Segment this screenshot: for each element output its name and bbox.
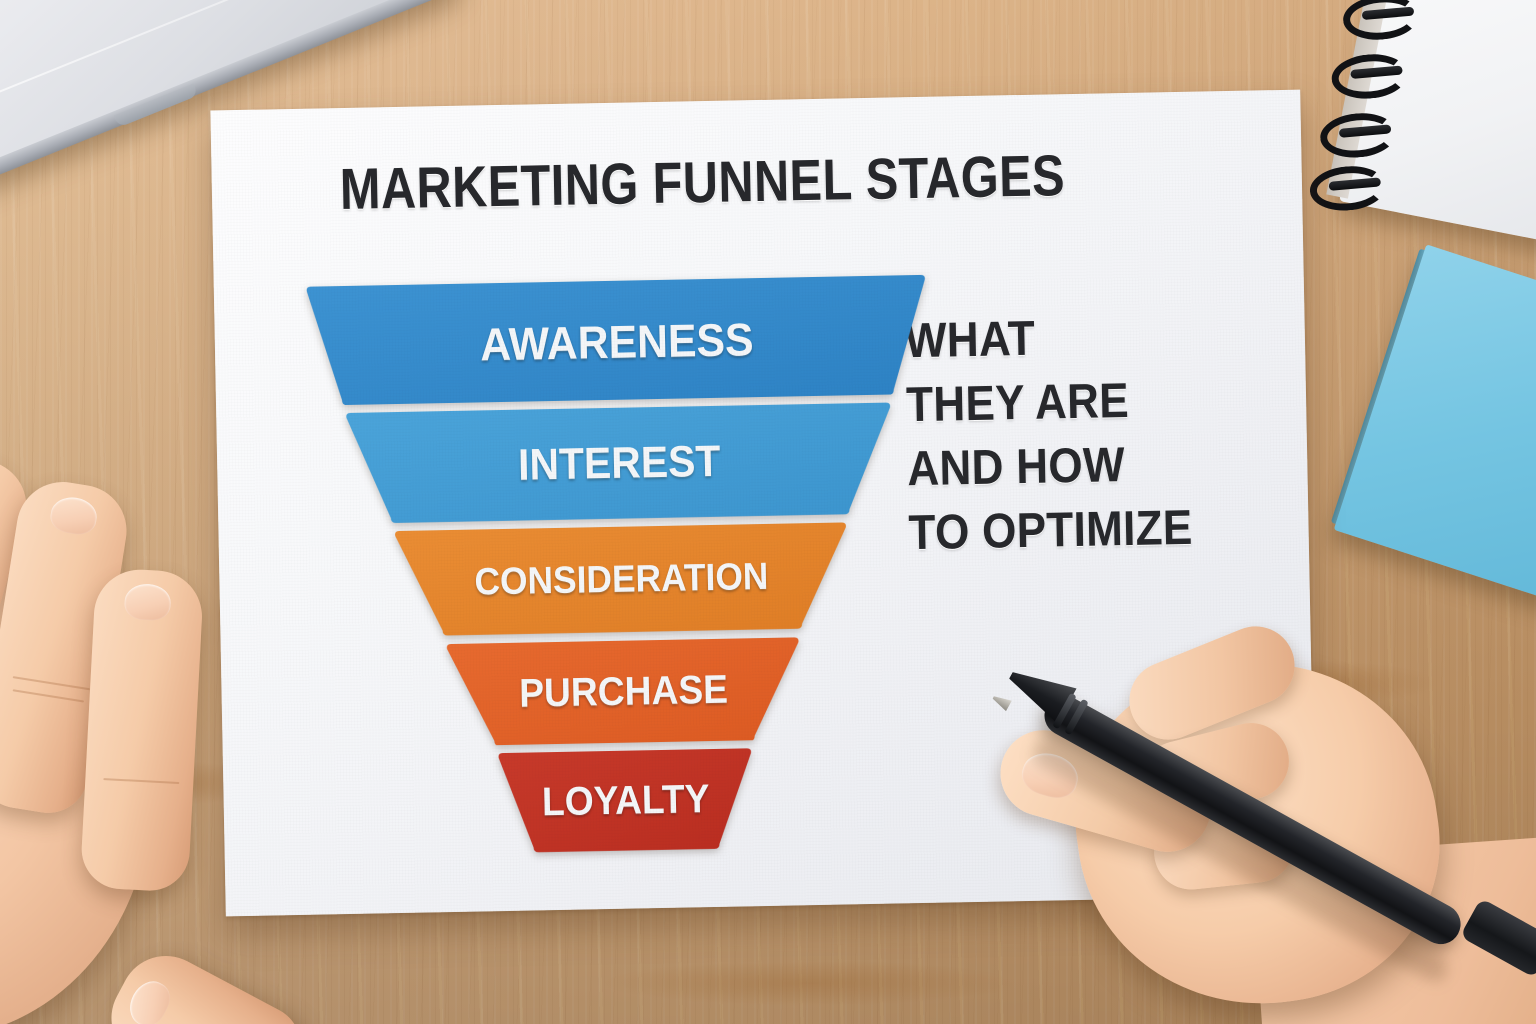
side-heading-line: THEY ARE bbox=[906, 367, 1258, 438]
left-thumb bbox=[95, 940, 314, 1024]
side-heading-line: AND HOW bbox=[907, 430, 1259, 501]
wood-knot bbox=[600, 960, 1020, 1006]
fingernail bbox=[123, 975, 176, 1024]
funnel-stage-consideration[interactable]: CONSIDERATION bbox=[310, 521, 932, 638]
funnel-stage-purchase[interactable]: PURCHASE bbox=[313, 634, 935, 748]
pen-barrel bbox=[1037, 689, 1467, 952]
finger-crease bbox=[103, 778, 179, 784]
left-hand bbox=[0, 418, 330, 1024]
left-ring-finger bbox=[80, 567, 205, 892]
funnel-stage-loyalty[interactable]: LOYALTY bbox=[315, 745, 937, 857]
funnel-chart: AWARENESSINTERESTCONSIDERATIONPURCHASELO… bbox=[306, 275, 937, 857]
photo-scene: MARKETING FUNNEL STAGES WHAT THEY ARE AN… bbox=[0, 0, 1536, 1024]
fingernail bbox=[48, 494, 99, 537]
page-title: MARKETING FUNNEL STAGES bbox=[339, 142, 1071, 223]
pen-shadow bbox=[1029, 736, 1453, 987]
funnel-stage-interest[interactable]: INTEREST bbox=[308, 402, 930, 525]
funnel-stage-label: AWARENESS bbox=[328, 310, 906, 375]
pen[interactable] bbox=[995, 664, 1536, 964]
side-heading: WHAT THEY ARE AND HOW TO OPTIMIZE bbox=[904, 302, 1299, 565]
finger-crease bbox=[13, 676, 90, 690]
side-heading-line: TO OPTIMIZE bbox=[908, 494, 1260, 565]
fingernail bbox=[124, 583, 172, 621]
finger-crease bbox=[13, 689, 84, 702]
side-heading-line: WHAT bbox=[904, 303, 1256, 374]
fingernail bbox=[0, 465, 3, 512]
funnel-stage-awareness[interactable]: AWARENESS bbox=[306, 275, 928, 406]
